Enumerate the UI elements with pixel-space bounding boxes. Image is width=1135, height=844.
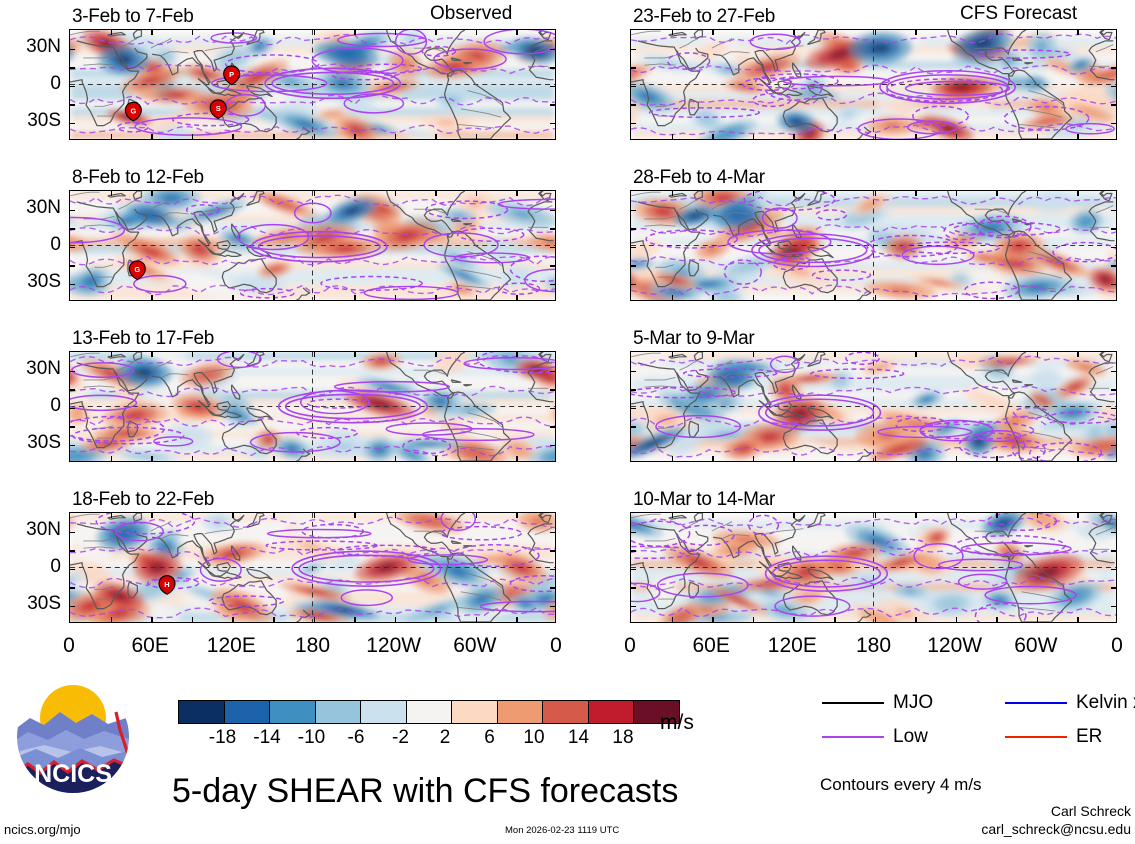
axis-tick	[631, 408, 636, 410]
axis-tick	[1111, 426, 1116, 428]
axis-tick	[354, 295, 356, 300]
axis-tick	[550, 265, 555, 267]
colorbar-tick-label: -14	[253, 727, 280, 749]
axis-tick	[956, 134, 958, 139]
x-axis-tick-label: 120W	[354, 634, 434, 658]
axis-tick	[354, 617, 356, 622]
axis-tick	[395, 134, 397, 139]
axis-tick	[192, 134, 194, 139]
axis-tick	[996, 134, 998, 139]
axis-tick	[70, 408, 75, 410]
axis-tick	[192, 513, 194, 518]
axis-tick	[834, 295, 836, 300]
colorbar-segment	[406, 701, 452, 723]
shear-anomaly-map	[631, 30, 1116, 139]
ncics-logo-icon: NCICS	[14, 678, 132, 796]
panel-title: 3-Feb to 7-Feb	[72, 6, 193, 28]
axis-tick	[753, 617, 755, 622]
axis-tick	[956, 352, 958, 357]
axis-tick	[314, 30, 316, 35]
axis-tick	[273, 30, 275, 35]
axis-tick	[516, 617, 518, 622]
page-title: 5-day SHEAR with CFS forecasts	[172, 772, 678, 811]
axis-tick	[631, 123, 636, 125]
axis-tick	[273, 352, 275, 357]
axis-tick	[550, 228, 555, 230]
axis-tick	[875, 134, 877, 139]
legend-item: MJO	[822, 692, 933, 714]
axis-tick	[672, 513, 674, 518]
colorbar-group: -18-14-10-6-226101418	[178, 700, 680, 750]
axis-tick	[395, 352, 397, 357]
axis-tick	[631, 86, 636, 88]
axis-tick	[631, 550, 636, 552]
axis-tick	[151, 191, 153, 196]
legend-item: Low	[822, 726, 928, 748]
axis-tick	[1111, 210, 1116, 212]
colorbar-segment	[315, 701, 361, 723]
axis-tick	[192, 617, 194, 622]
axis-tick	[712, 617, 714, 622]
axis-tick	[712, 30, 714, 35]
y-axis-tick-label: 30S	[5, 593, 61, 615]
x-axis-tick-label: 60E	[110, 634, 190, 658]
colorbar	[178, 700, 680, 724]
axis-tick	[70, 67, 75, 69]
axis-tick	[672, 295, 674, 300]
axis-tick	[793, 295, 795, 300]
axis-tick	[550, 389, 555, 391]
axis-tick	[631, 389, 636, 391]
axis-tick	[793, 513, 795, 518]
x-axis-tick-label: 60W	[996, 634, 1076, 658]
axis-tick	[314, 191, 316, 196]
axis-tick	[712, 295, 714, 300]
axis-tick	[956, 191, 958, 196]
axis-tick	[192, 295, 194, 300]
axis-tick	[712, 352, 714, 357]
colorbar-segment	[451, 701, 497, 723]
axis-tick	[550, 67, 555, 69]
axis-tick	[915, 134, 917, 139]
axis-tick	[631, 49, 636, 51]
column-header-observed: Observed	[430, 3, 512, 25]
axis-tick	[70, 426, 75, 428]
axis-tick	[314, 456, 316, 461]
shear-anomaly-map	[631, 191, 1116, 300]
x-axis-tick-label: 0	[29, 634, 109, 658]
axis-tick	[996, 352, 998, 357]
axis-tick	[1077, 295, 1079, 300]
axis-tick	[232, 191, 234, 196]
axis-tick	[550, 569, 555, 571]
axis-tick	[956, 513, 958, 518]
axis-tick	[550, 104, 555, 106]
y-axis-tick-label: 0	[5, 395, 61, 417]
axis-tick	[476, 513, 478, 518]
axis-tick	[476, 456, 478, 461]
axis-tick	[476, 352, 478, 357]
colorbar-tick-label: -6	[348, 727, 365, 749]
svg-text:S: S	[216, 104, 221, 113]
x-axis-tick-label: 0	[516, 634, 596, 658]
legend-label: Low	[893, 726, 928, 748]
axis-tick	[192, 30, 194, 35]
axis-tick	[915, 295, 917, 300]
map-panel[interactable]	[630, 190, 1117, 301]
axis-tick	[1037, 30, 1039, 35]
map-panel[interactable]	[630, 351, 1117, 462]
axis-tick	[354, 30, 356, 35]
y-axis-tick-label: 30N	[5, 36, 61, 58]
ncics-logo[interactable]: NCICS	[14, 678, 132, 801]
axis-tick	[516, 456, 518, 461]
axis-tick	[70, 210, 75, 212]
axis-tick	[631, 587, 636, 589]
axis-tick	[1111, 86, 1116, 88]
axis-tick	[631, 532, 636, 534]
axis-tick	[192, 191, 194, 196]
axis-tick	[70, 606, 75, 608]
axis-tick	[314, 513, 316, 518]
axis-tick	[70, 265, 75, 267]
axis-tick	[875, 30, 877, 35]
axis-tick	[753, 134, 755, 139]
x-axis-tick-label: 120W	[915, 634, 995, 658]
axis-tick	[753, 513, 755, 518]
axis-tick	[550, 408, 555, 410]
axis-tick	[1037, 295, 1039, 300]
map-panel[interactable]: G	[69, 190, 556, 301]
axis-tick	[996, 456, 998, 461]
panel-title: 13-Feb to 17-Feb	[72, 328, 214, 350]
axis-tick	[996, 513, 998, 518]
axis-tick	[834, 513, 836, 518]
axis-tick	[354, 191, 356, 196]
axis-tick	[956, 295, 958, 300]
axis-tick	[70, 445, 75, 447]
axis-tick	[70, 389, 75, 391]
axis-tick	[1037, 134, 1039, 139]
axis-tick	[875, 352, 877, 357]
axis-tick	[834, 352, 836, 357]
axis-tick	[753, 191, 755, 196]
axis-tick	[232, 30, 234, 35]
map-panel[interactable]	[630, 512, 1117, 623]
colorbar-tick-label: 10	[523, 727, 544, 749]
site-url[interactable]: ncics.org/mjo	[4, 822, 81, 837]
axis-tick	[435, 513, 437, 518]
axis-tick	[1111, 247, 1116, 249]
axis-tick	[712, 513, 714, 518]
axis-tick	[875, 191, 877, 196]
legend-label: ER	[1076, 726, 1102, 748]
axis-tick	[476, 295, 478, 300]
axis-tick	[1111, 445, 1116, 447]
axis-tick	[712, 456, 714, 461]
axis-tick	[753, 352, 755, 357]
axis-tick	[273, 191, 275, 196]
axis-tick	[631, 284, 636, 286]
axis-tick	[476, 617, 478, 622]
axis-tick	[956, 30, 958, 35]
panel-title: 8-Feb to 12-Feb	[72, 167, 204, 189]
axis-tick	[1111, 265, 1116, 267]
svg-text:G: G	[134, 265, 140, 274]
panel-title: 18-Feb to 22-Feb	[72, 489, 214, 511]
y-axis-tick-label: 30S	[5, 432, 61, 454]
axis-tick	[151, 456, 153, 461]
axis-tick	[151, 617, 153, 622]
axis-tick	[151, 352, 153, 357]
map-panel[interactable]	[630, 29, 1117, 140]
legend-line-swatch	[822, 702, 884, 704]
axis-tick	[1077, 30, 1079, 35]
axis-tick	[915, 617, 917, 622]
x-axis-tick-label: 120E	[752, 634, 832, 658]
map-panel[interactable]: PGS	[69, 29, 556, 140]
axis-tick	[516, 352, 518, 357]
legend-label: Kelvin x2	[1076, 692, 1135, 714]
axis-tick	[915, 513, 917, 518]
axis-tick	[1111, 67, 1116, 69]
axis-tick	[232, 352, 234, 357]
axis-tick	[1111, 408, 1116, 410]
axis-tick	[435, 295, 437, 300]
axis-tick	[631, 228, 636, 230]
colorbar-segment	[179, 701, 224, 723]
axis-tick	[395, 456, 397, 461]
map-panel[interactable]	[69, 351, 556, 462]
axis-tick	[915, 30, 917, 35]
axis-tick	[550, 49, 555, 51]
axis-tick	[70, 247, 75, 249]
panel-title: 10-Mar to 14-Mar	[633, 489, 775, 511]
axis-tick	[151, 295, 153, 300]
legend-label: MJO	[893, 692, 933, 714]
y-axis-tick-label: 30S	[5, 110, 61, 132]
axis-tick	[550, 86, 555, 88]
axis-tick	[753, 30, 755, 35]
axis-tick	[1077, 134, 1079, 139]
axis-tick	[875, 456, 877, 461]
axis-tick	[996, 295, 998, 300]
x-axis-tick-label: 180	[273, 634, 353, 658]
axis-tick	[273, 617, 275, 622]
legend-item: Kelvin x2	[1005, 692, 1135, 714]
colorbar-units-label: m/s	[660, 711, 694, 735]
svg-text:G: G	[130, 107, 136, 116]
author-email[interactable]: carl_schreck@ncsu.edu	[885, 821, 1131, 837]
axis-tick	[1037, 513, 1039, 518]
axis-tick	[273, 456, 275, 461]
axis-tick	[672, 134, 674, 139]
x-axis-tick-label: 0	[1077, 634, 1135, 658]
column-header-forecast: CFS Forecast	[960, 3, 1077, 25]
axis-tick	[631, 426, 636, 428]
axis-tick	[1037, 352, 1039, 357]
contour-interval-note: Contours every 4 m/s	[820, 775, 982, 795]
axis-tick	[354, 352, 356, 357]
axis-tick	[70, 587, 75, 589]
axis-tick	[232, 295, 234, 300]
axis-tick	[111, 456, 113, 461]
author-name: Carl Schreck	[935, 803, 1131, 819]
axis-tick	[232, 134, 234, 139]
axis-tick	[1111, 123, 1116, 125]
axis-tick	[550, 284, 555, 286]
axis-tick	[111, 134, 113, 139]
y-axis-tick-label: 0	[5, 556, 61, 578]
axis-tick	[70, 569, 75, 571]
x-axis-tick-label: 180	[834, 634, 914, 658]
axis-tick	[712, 134, 714, 139]
axis-tick	[111, 295, 113, 300]
axis-tick	[550, 532, 555, 534]
y-axis-tick-label: 0	[5, 234, 61, 256]
axis-tick	[834, 617, 836, 622]
shear-anomaly-map	[70, 352, 555, 461]
colorbar-segment	[224, 701, 270, 723]
axis-tick	[70, 550, 75, 552]
axis-tick	[631, 371, 636, 373]
axis-tick	[1111, 284, 1116, 286]
x-axis-tick-label: 60E	[671, 634, 751, 658]
axis-tick	[834, 134, 836, 139]
axis-tick	[70, 123, 75, 125]
axis-tick	[232, 617, 234, 622]
axis-tick	[793, 617, 795, 622]
axis-tick	[915, 191, 917, 196]
axis-tick	[70, 86, 75, 88]
axis-tick	[111, 513, 113, 518]
colorbar-tick-label: 18	[612, 727, 633, 749]
axis-tick	[70, 49, 75, 51]
axis-tick	[1111, 389, 1116, 391]
shear-anomaly-map: G	[70, 191, 555, 300]
axis-tick	[550, 247, 555, 249]
axis-tick	[273, 295, 275, 300]
axis-tick	[1077, 513, 1079, 518]
axis-tick	[232, 456, 234, 461]
axis-tick	[793, 352, 795, 357]
axis-tick	[834, 30, 836, 35]
axis-tick	[111, 191, 113, 196]
colorbar-tick-label: 6	[484, 727, 495, 749]
shear-anomaly-map: H	[70, 513, 555, 622]
map-panel[interactable]: H	[69, 512, 556, 623]
axis-tick	[1077, 352, 1079, 357]
y-axis-tick-label: 30N	[5, 519, 61, 541]
y-axis-tick-label: 30N	[5, 358, 61, 380]
axis-tick	[354, 513, 356, 518]
svg-text:P: P	[229, 70, 234, 79]
axis-tick	[111, 30, 113, 35]
axis-tick	[435, 134, 437, 139]
colorbar-segment	[588, 701, 634, 723]
axis-tick	[915, 352, 917, 357]
axis-tick	[631, 265, 636, 267]
axis-tick	[273, 134, 275, 139]
axis-tick	[314, 617, 316, 622]
axis-tick	[314, 134, 316, 139]
colorbar-tick-label: -18	[209, 727, 236, 749]
colorbar-tick-label: -10	[298, 727, 325, 749]
axis-tick	[1111, 228, 1116, 230]
axis-tick	[111, 352, 113, 357]
axis-tick	[395, 295, 397, 300]
axis-tick	[395, 513, 397, 518]
y-axis-tick-label: 30N	[5, 197, 61, 219]
axis-tick	[476, 191, 478, 196]
axis-tick	[550, 123, 555, 125]
axis-tick	[1111, 587, 1116, 589]
axis-tick	[232, 513, 234, 518]
axis-tick	[956, 456, 958, 461]
legend-line-swatch	[1005, 736, 1067, 738]
axis-tick	[516, 513, 518, 518]
legend-item: ER	[1005, 726, 1102, 748]
colorbar-segment	[269, 701, 315, 723]
axis-tick	[1111, 606, 1116, 608]
axis-tick	[192, 352, 194, 357]
axis-tick	[435, 456, 437, 461]
shear-anomaly-map	[631, 513, 1116, 622]
y-axis-tick-label: 0	[5, 73, 61, 95]
axis-tick	[956, 617, 958, 622]
axis-tick	[672, 617, 674, 622]
axis-tick	[1077, 191, 1079, 196]
timestamp: Mon 2026-02-23 1119 UTC	[505, 825, 619, 836]
axis-tick	[631, 445, 636, 447]
axis-tick	[516, 295, 518, 300]
axis-tick	[672, 352, 674, 357]
y-axis-tick-label: 30S	[5, 271, 61, 293]
colorbar-segment	[497, 701, 543, 723]
axis-tick	[875, 295, 877, 300]
axis-tick	[996, 30, 998, 35]
axis-tick	[1037, 456, 1039, 461]
legend-line-swatch	[822, 736, 884, 738]
shear-anomaly-map: PGS	[70, 30, 555, 139]
axis-tick	[631, 104, 636, 106]
colorbar-tick-labels: -18-14-10-6-226101418	[178, 724, 680, 750]
axis-tick	[753, 295, 755, 300]
axis-tick	[1037, 191, 1039, 196]
axis-tick	[273, 513, 275, 518]
panel-title: 5-Mar to 9-Mar	[633, 328, 754, 350]
ncics-logo-text: NCICS	[34, 760, 112, 788]
svg-text:H: H	[164, 580, 169, 589]
axis-tick	[1111, 550, 1116, 552]
axis-tick	[354, 134, 356, 139]
colorbar-tick-label: 2	[440, 727, 451, 749]
axis-tick	[550, 426, 555, 428]
x-axis-tick-label: 0	[590, 634, 670, 658]
axis-tick	[435, 30, 437, 35]
axis-tick	[70, 104, 75, 106]
axis-tick	[631, 247, 636, 249]
axis-tick	[915, 456, 917, 461]
axis-tick	[631, 569, 636, 571]
axis-tick	[631, 606, 636, 608]
axis-tick	[395, 30, 397, 35]
axis-tick	[1111, 532, 1116, 534]
axis-tick	[1077, 617, 1079, 622]
x-axis-tick-label: 120E	[191, 634, 271, 658]
legend-line-swatch	[1005, 702, 1067, 704]
axis-tick	[314, 295, 316, 300]
